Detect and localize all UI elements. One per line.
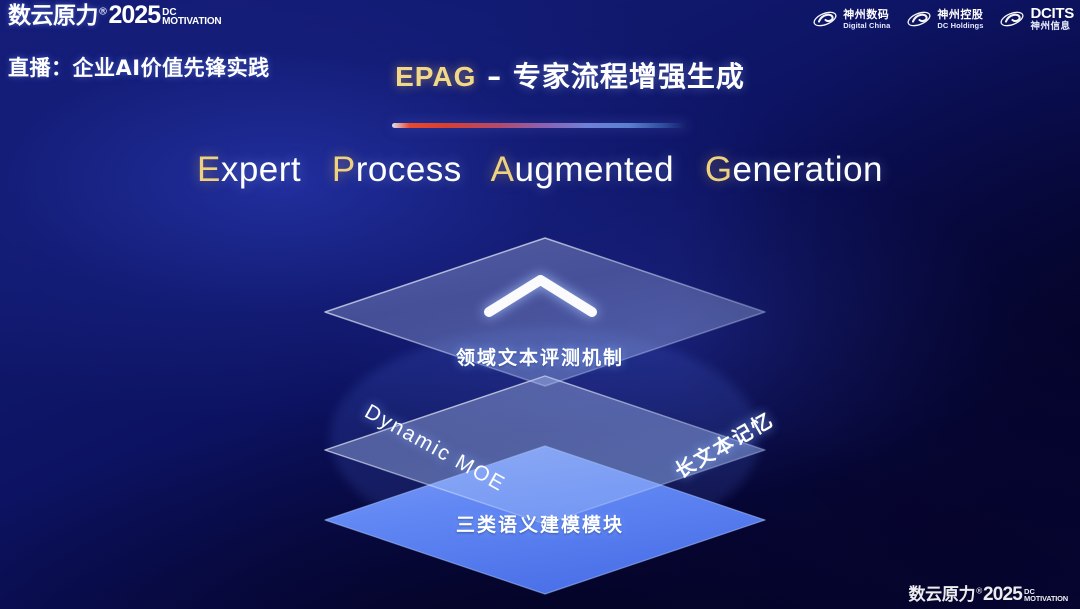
subtitle-rest: rocess (356, 150, 462, 189)
partner-name-cn: 神州控股 (937, 9, 983, 21)
partner-logo-group: 神州数码 Digital China 神州控股 DC Holdings DCIT… (812, 6, 1074, 32)
partner-name-cn-secondary: 神州信息 (1030, 21, 1074, 32)
brand-name-cn: 数云原力® (8, 5, 108, 28)
brand-motivation-text: MOTIVATION (162, 17, 221, 27)
subtitle-space (684, 150, 694, 189)
partner-name-en: Digital China (843, 21, 890, 30)
subtitle-cap: P (332, 150, 356, 189)
watermark-dc-motivation: DC MOTIVATION (1024, 588, 1068, 604)
subtitle-word-generation: Generation (705, 150, 883, 189)
partner-name-block: 神州数码 Digital China (843, 9, 890, 30)
subtitle-word-process: Process (332, 150, 462, 189)
partner-logo-digital-china: 神州数码 Digital China (812, 8, 890, 30)
partner-name-en: DC Holdings (937, 21, 983, 30)
chevron-up-icon (483, 272, 598, 318)
title-divider (392, 123, 688, 128)
subtitle-rest: ugmented (514, 150, 674, 189)
subtitle-cap: A (491, 150, 515, 189)
title-acronym: EPAG (395, 61, 476, 92)
title-chinese: 专家流程增强生成 (513, 60, 745, 93)
partner-name-en-primary: DCITS (1030, 6, 1074, 21)
subtitle-cap: G (705, 150, 733, 189)
subtitle-space (472, 150, 482, 189)
subtitle-space (311, 150, 321, 189)
registered-mark: ® (98, 6, 108, 17)
partner-logo-dcits: DCITS 神州信息 (999, 6, 1074, 32)
brand-year: 2025 (109, 3, 161, 28)
subtitle-word-augmented: Augmented (491, 150, 675, 189)
watermark-registered-mark: ® (975, 586, 983, 595)
swirl-logo-icon (812, 8, 838, 30)
title-separator: – (476, 60, 513, 93)
footer-watermark: 数云原力® 2025 DC MOTIVATION (908, 585, 1068, 604)
brand-dc-motivation: DC MOTIVATION (162, 8, 221, 28)
subtitle-cap: E (197, 150, 221, 189)
subtitle-rest: eneration (733, 150, 883, 189)
presentation-slide: 数云原力® 2025 DC MOTIVATION 直播：企业AI价值先锋实践 神… (0, 0, 1080, 609)
watermark-name-cn: 数云原力® (908, 587, 983, 604)
watermark-year: 2025 (983, 585, 1022, 604)
partner-name-block: DCITS 神州信息 (1030, 6, 1074, 32)
subtitle-word-expert: Expert (197, 150, 301, 189)
swirl-logo-icon (906, 8, 932, 30)
partner-logo-dc-holdings: 神州控股 DC Holdings (906, 8, 983, 30)
page-subtitle: Expert Process Augmented Generation (0, 150, 1080, 190)
subtitle-rest: xpert (221, 150, 301, 189)
partner-name-block: 神州控股 DC Holdings (937, 9, 983, 30)
live-stream-label: 直播：企业AI价值先锋实践 (8, 52, 270, 82)
watermark-motivation-text: MOTIVATION (1024, 595, 1068, 603)
brand-logo: 数云原力® 2025 DC MOTIVATION (8, 3, 221, 28)
partner-name-cn: 神州数码 (843, 9, 890, 21)
swirl-logo-icon (999, 8, 1025, 30)
